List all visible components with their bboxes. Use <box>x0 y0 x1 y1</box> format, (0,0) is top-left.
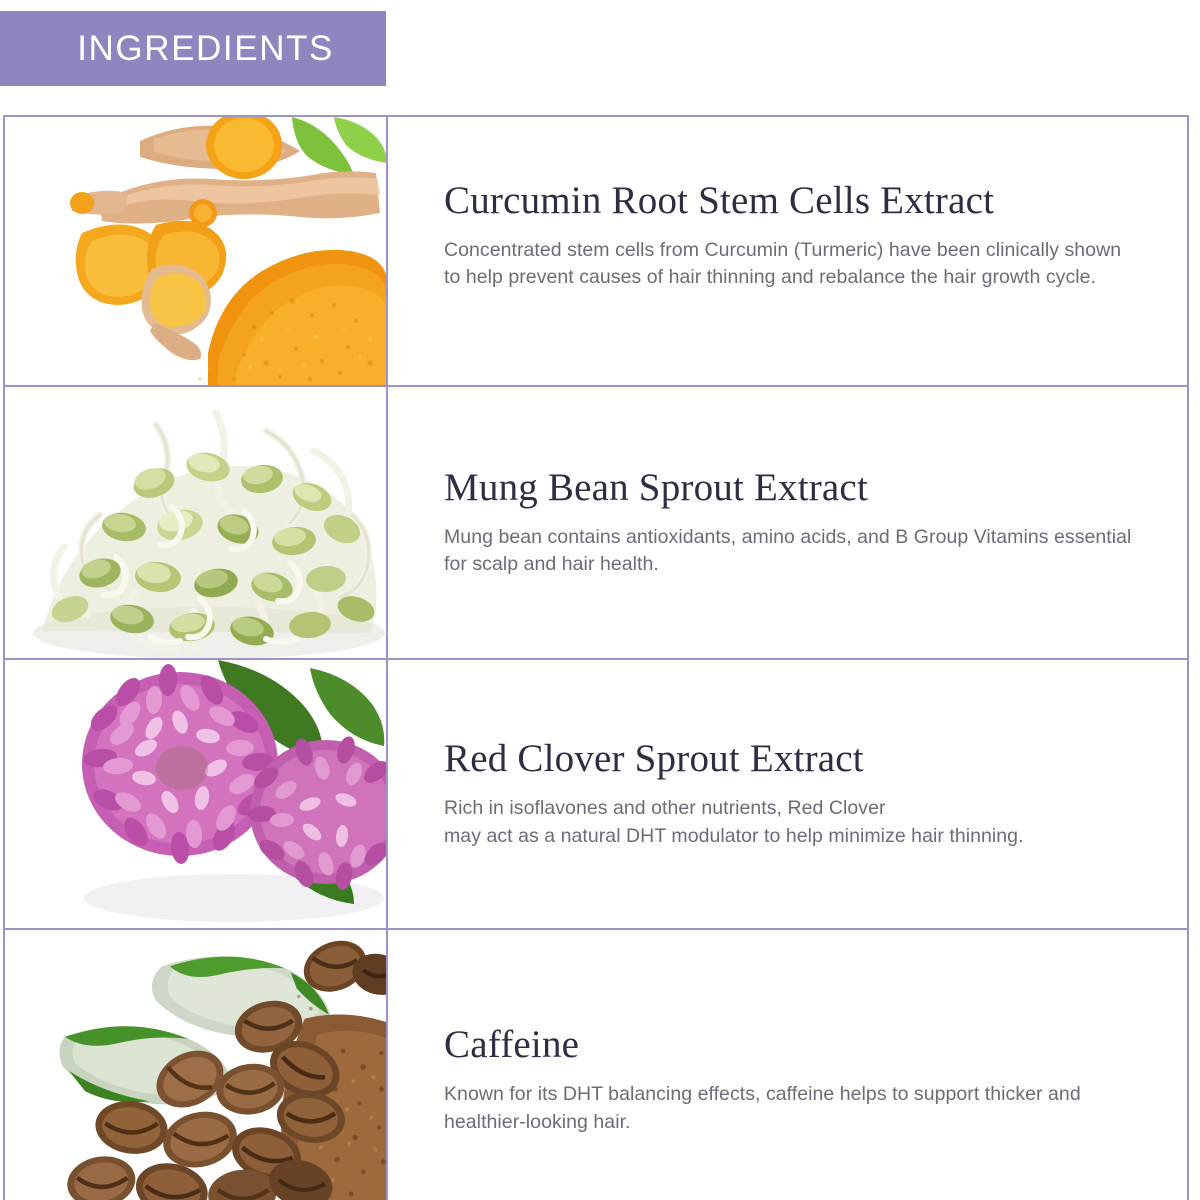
ingredients-banner: INGREDIENTS <box>0 11 386 86</box>
table-row: Red Clover Sprout Extract Rich in isofla… <box>5 660 1187 930</box>
ingredient-text-cell: Curcumin Root Stem Cells Extract Concent… <box>388 117 1187 385</box>
page-title: INGREDIENTS <box>77 31 334 66</box>
ingredient-text-cell: Mung Bean Sprout Extract Mung bean conta… <box>388 387 1187 658</box>
ingredient-description: Rich in isoflavones and other nutrients,… <box>444 795 1137 850</box>
ingredient-image-cell <box>5 930 388 1200</box>
ingredients-table: Curcumin Root Stem Cells Extract Concent… <box>3 115 1189 1200</box>
table-row: Mung Bean Sprout Extract Mung bean conta… <box>5 387 1187 660</box>
ingredient-text-cell: Caffeine Known for its DHT balancing eff… <box>388 930 1187 1200</box>
ingredient-description: Known for its DHT balancing effects, caf… <box>444 1081 1137 1136</box>
ingredient-image-cell <box>5 660 388 928</box>
ingredient-image-cell <box>5 117 388 385</box>
ingredient-description: Concentrated stem cells from Curcumin (T… <box>444 237 1137 292</box>
coffee-beans-and-leaves-photo <box>5 930 386 1200</box>
ingredient-title: Caffeine <box>444 1023 1137 1067</box>
red-clover-flowers-photo <box>5 660 386 928</box>
table-row: Caffeine Known for its DHT balancing eff… <box>5 930 1187 1200</box>
ingredient-title: Red Clover Sprout Extract <box>444 737 1137 781</box>
ingredient-title: Curcumin Root Stem Cells Extract <box>444 179 1137 223</box>
ingredient-title: Mung Bean Sprout Extract <box>444 466 1137 510</box>
ingredient-description: Mung bean contains antioxidants, amino a… <box>444 524 1137 579</box>
mung-bean-sprouts-photo <box>5 387 386 658</box>
turmeric-root-and-powder-photo <box>5 117 386 385</box>
table-row: Curcumin Root Stem Cells Extract Concent… <box>5 117 1187 387</box>
ingredient-image-cell <box>5 387 388 658</box>
ingredients-infographic: INGREDIENTS <box>0 0 1200 1200</box>
ingredient-text-cell: Red Clover Sprout Extract Rich in isofla… <box>388 660 1187 928</box>
